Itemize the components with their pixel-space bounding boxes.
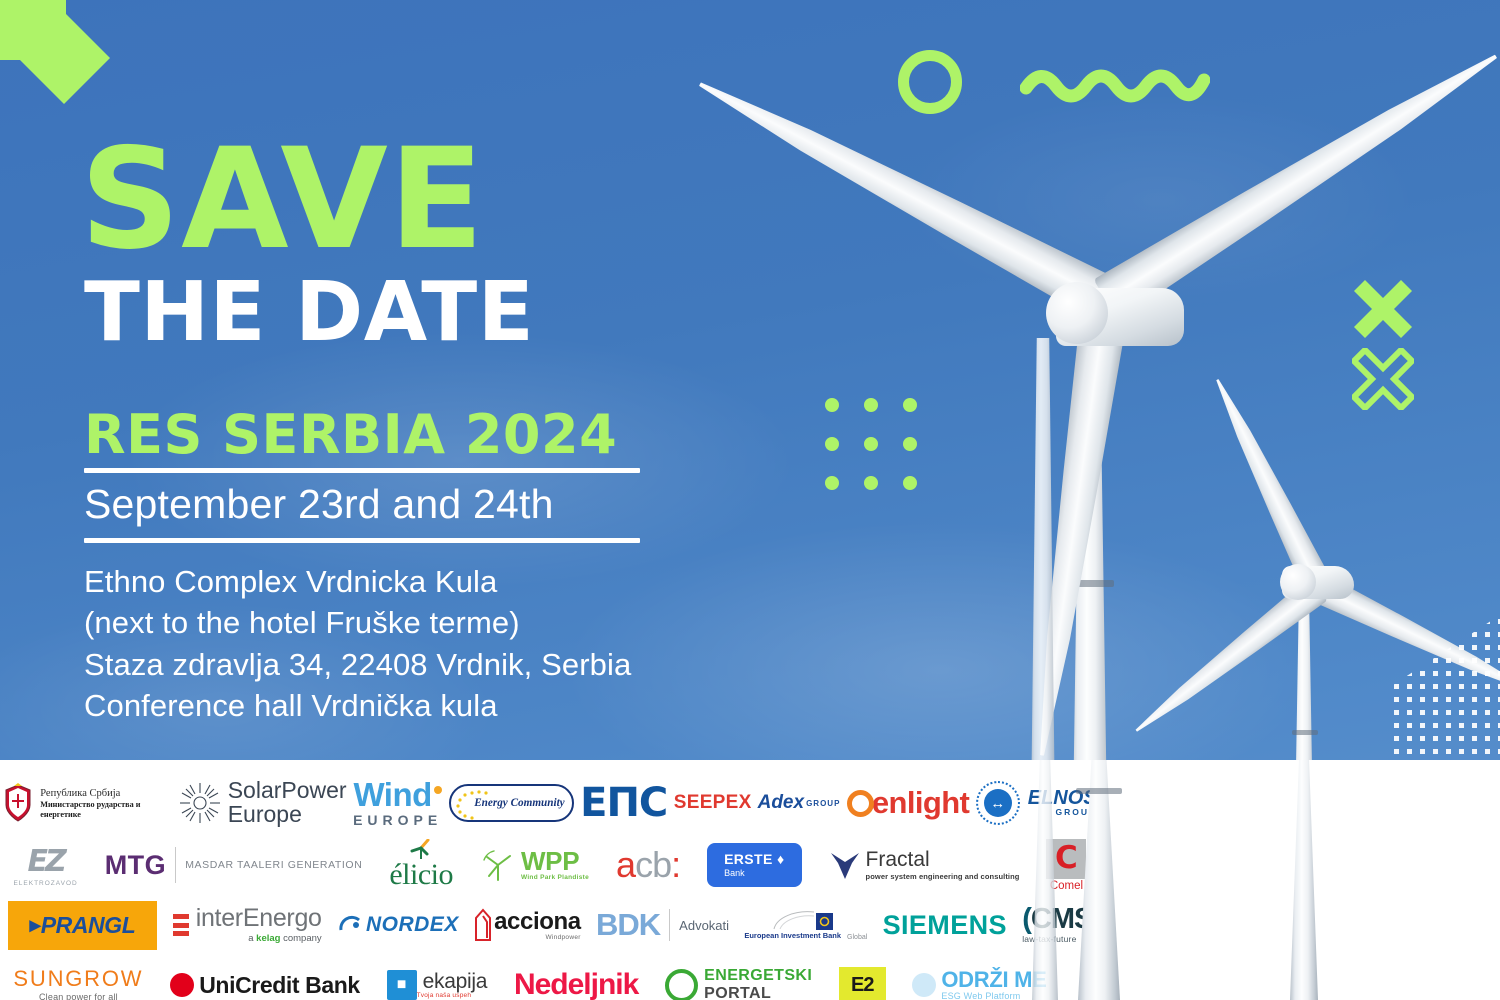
- logo-subtext: Clean power for all: [39, 992, 118, 1000]
- sun-burst-icon: [179, 782, 221, 824]
- unicredit-mark-icon: [170, 973, 194, 997]
- logo-text: SolarPower: [228, 779, 347, 803]
- logo-subtext: Europe: [228, 803, 347, 827]
- ekapija-mark-icon: ■: [387, 970, 417, 1000]
- divider-bottom: [84, 538, 640, 543]
- logo-acciona[interactable]: acciona Windpower: [474, 898, 581, 952]
- elnos-circle-icon: ↔: [976, 781, 1020, 825]
- logo-sungrow[interactable]: SUNGROW Clean power for all: [13, 958, 143, 1000]
- logo-comel[interactable]: C Comel: [1046, 838, 1086, 892]
- logo-erste-bank[interactable]: ERSTE ♦ Bank: [707, 838, 802, 892]
- sponsor-row-2: EZ ELEKTROZAVOD MTG MASDAR TAALERI GENER…: [0, 836, 1100, 894]
- dot-grid-icon: [825, 398, 917, 490]
- logo-text: ODRŽI ME: [941, 969, 1046, 991]
- logo-subtext: power system engineering and consulting: [866, 872, 1020, 881]
- venue-line: Conference hall Vrdnička kula: [84, 685, 700, 727]
- divider-top: [84, 468, 640, 473]
- logo-subtext: ESG Web Platform: [941, 991, 1046, 1000]
- logo-text: Wind: [353, 779, 441, 810]
- logo-subtext: EUROPE: [353, 813, 442, 827]
- logo-text: SIEMENS: [883, 910, 1007, 941]
- logo-subtext: Advokati: [679, 918, 729, 933]
- logo-elicio[interactable]: élicio: [389, 838, 453, 892]
- logo-nordex[interactable]: NORDEX: [337, 898, 459, 952]
- nordex-swoosh-icon: [337, 914, 363, 936]
- fractal-mark-icon: [829, 849, 861, 881]
- logo-text: WPP: [521, 849, 589, 874]
- logo-text: élicio: [389, 858, 453, 892]
- venue-address: Ethno Complex Vrdnicka Kula (next to the…: [84, 561, 700, 727]
- halftone-triangle-pattern: [1390, 615, 1500, 763]
- logo-text: ELNOS: [1028, 789, 1097, 807]
- energetski-circle-icon: [665, 969, 698, 1000]
- save-the-date-poster: SAVE THE DATE RES SERBIA 2024 September …: [0, 0, 1500, 1000]
- logo-text: Nedeljnik: [514, 968, 638, 1000]
- logo-text: MTG: [105, 850, 167, 881]
- logo-eps[interactable]: ЕПС: [580, 776, 667, 830]
- logo-fractal[interactable]: Fractal power system engineering and con…: [829, 838, 1020, 892]
- headline-save: SAVE: [80, 140, 700, 260]
- logo-text: Fractal: [866, 849, 1020, 870]
- logo-cms[interactable]: (CMS law-tax-future: [1022, 898, 1092, 952]
- logo-subtext: Bank: [724, 868, 785, 878]
- venue-line: Ethno Complex Vrdnicka Kula: [84, 561, 700, 603]
- x-mark-filled-icon: [1352, 278, 1414, 340]
- event-dates: September 23rd and 24th: [84, 482, 700, 528]
- logo-text: SUNGROW: [13, 968, 143, 990]
- logo-text: (CMS: [1022, 906, 1092, 934]
- sponsor-row-4: SUNGROW Clean power for all UniCredit Ba…: [0, 956, 1060, 1000]
- logo-subtext: law-tax-future: [1022, 934, 1076, 944]
- logo-subtext: Global: [847, 934, 867, 941]
- eib-arc-icon: [772, 909, 840, 931]
- turbine-blade: [1204, 373, 1333, 595]
- x-mark-outline-icon: [1352, 348, 1414, 410]
- venue-line: Staza zdravlja 34, 22408 Vrdnik, Serbia: [84, 644, 700, 686]
- logo-elnos-group[interactable]: ↔ ELNOS GROUP: [976, 776, 1097, 830]
- turbine-blade: [1127, 576, 1328, 742]
- logo-e2[interactable]: E2: [839, 958, 885, 1000]
- turbine-blade: [1018, 297, 1130, 759]
- logo-subtext: Comel: [1050, 880, 1083, 892]
- logo-extra: GROUP: [806, 799, 840, 808]
- odrzi-me-mark-icon: [912, 973, 936, 997]
- circle-outline-icon: [898, 50, 962, 114]
- logo-odrzi-me[interactable]: ODRŽI ME ESG Web Platform: [912, 958, 1046, 1000]
- acciona-mark-icon: [474, 908, 492, 942]
- logo-interenergo[interactable]: interEnergo a kelag company: [173, 898, 322, 952]
- logo-wpp[interactable]: WPP Wind Park Plandiste: [480, 838, 589, 892]
- logo-text: enlight: [872, 785, 969, 821]
- logo-elektrozavod[interactable]: EZ ELEKTROZAVOD: [13, 838, 77, 892]
- sponsor-logo-panel: Република Србија Министарство рударства …: [0, 760, 1500, 1000]
- cloud-wash: [900, 90, 1420, 310]
- logo-text: ENERGETSKI: [704, 967, 812, 985]
- wave-line-icon: [1020, 58, 1210, 106]
- logo-enlight[interactable]: enlight: [847, 776, 969, 830]
- wpp-turbine-icon: [480, 848, 516, 882]
- logo-subtext: MASDAR TAALERI GENERATION: [185, 859, 362, 871]
- logo-text: Република Србија: [40, 787, 172, 800]
- logo-text: BDK: [596, 907, 660, 943]
- logo-text: ЕПС: [580, 780, 667, 826]
- venue-line: (next to the hotel Fruške terme): [84, 602, 700, 644]
- logo-text: NORDEX: [366, 913, 459, 937]
- headline-the-date: THE DATE: [84, 274, 700, 351]
- logo-seepex-adex[interactable]: SEEPEX Adex GROUP: [674, 776, 841, 830]
- logo-text: PRANGL: [41, 912, 136, 939]
- logo-subtext: Wind Park Plandiste: [521, 874, 589, 881]
- logo-text: EZ: [27, 844, 63, 879]
- eu-stars-icon: [455, 789, 507, 821]
- divider: [175, 847, 176, 883]
- logo-text: UniCredit Bank: [199, 972, 360, 999]
- logo-energetski-portal[interactable]: ENERGETSKI PORTAL: [665, 958, 812, 1000]
- event-name: RES SERBIA 2024: [84, 407, 700, 462]
- logo-text: acciona: [494, 910, 581, 934]
- logo-subtext: ELEKTROZAVOD: [13, 880, 77, 887]
- enlight-o-icon: [847, 790, 874, 817]
- logo-ministry-serbia[interactable]: Република Србија Министарство рударства …: [3, 776, 172, 830]
- logo-subtext: PORTAL: [704, 985, 812, 1000]
- logo-subtext: Tvoja naša uspeh: [417, 992, 487, 999]
- logo-acb[interactable]: acb:: [616, 838, 680, 892]
- logo-subtext: Adex: [758, 792, 804, 814]
- orange-dot-icon: [434, 786, 442, 794]
- logo-text: ekapija: [423, 971, 487, 992]
- logo-mtg[interactable]: MTG MASDAR TAALERI GENERATION: [105, 838, 363, 892]
- logo-text: SEEPEX: [674, 792, 752, 814]
- logo-ekapija[interactable]: ■ ekapija Tvoja naša uspeh: [387, 958, 487, 1000]
- logo-european-investment-bank[interactable]: European Investment Bank Global: [744, 898, 867, 952]
- logo-siemens[interactable]: SIEMENS: [883, 898, 1007, 952]
- logo-text: C: [1055, 846, 1078, 871]
- logo-text: ERSTE ♦: [724, 852, 785, 866]
- logo-windeurope[interactable]: Wind EUROPE: [353, 776, 442, 830]
- sponsor-row-3: ▸ PRANGL interEnergo a kelag company NOR…: [0, 896, 1100, 954]
- logo-text: European Investment Bank: [744, 931, 841, 940]
- logo-bdk-advokati[interactable]: BDK Advokati: [596, 898, 729, 952]
- poster-text-block: SAVE THE DATE RES SERBIA 2024 September …: [80, 140, 700, 727]
- logo-text: interEnergo: [196, 906, 322, 931]
- logo-energy-community[interactable]: Energy Community: [449, 776, 574, 830]
- logo-subtext: Министарство рударства и енергетике: [40, 800, 172, 820]
- interenergo-bars-icon: [173, 914, 189, 936]
- serbia-coat-of-arms-icon: [3, 783, 33, 823]
- logo-text: E2: [839, 967, 885, 1000]
- logo-unicredit-bank[interactable]: UniCredit Bank: [170, 958, 360, 1000]
- sponsor-row-1: Република Србија Министарство рударства …: [0, 774, 1100, 832]
- logo-subtext: Windpower: [494, 934, 581, 941]
- divider: [669, 909, 670, 941]
- logo-nedeljnik[interactable]: Nedeljnik: [514, 958, 638, 1000]
- logo-subtext: a kelag company: [189, 933, 322, 944]
- logo-solarpower-europe[interactable]: SolarPower Europe: [179, 776, 347, 830]
- logo-prangl[interactable]: ▸ PRANGL: [8, 898, 158, 952]
